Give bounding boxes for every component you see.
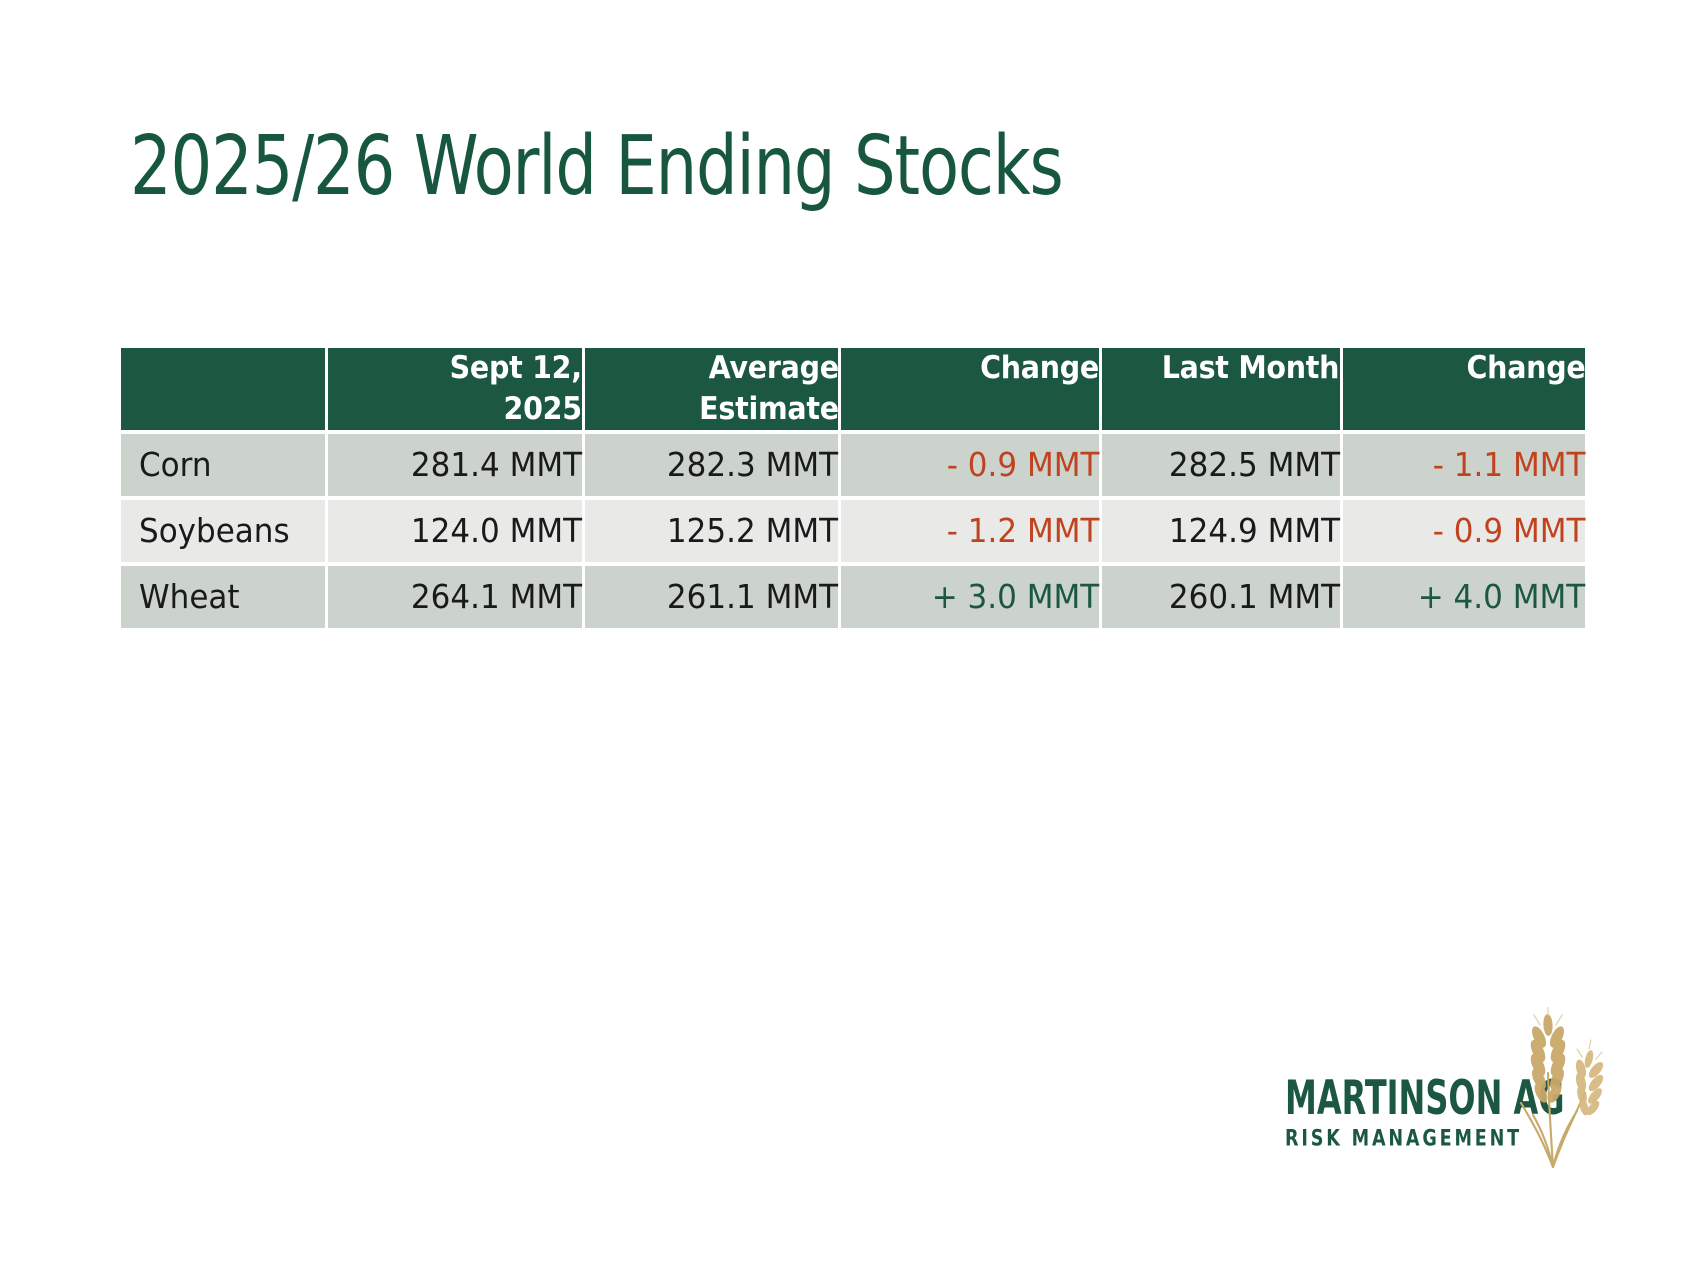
cell-soybeans-change-estimate: - 1.2 MMT (841, 500, 1099, 562)
cell-text: - 0.9 MMT (1432, 514, 1585, 547)
slide-canvas: 2025/26 World Ending Stocks Sept 12, 202… (0, 0, 1707, 1280)
header-line-average: Average (605, 348, 838, 389)
cell-soybeans-last-month: 124.9 MMT (1102, 500, 1339, 562)
cell-text: 125.2 MMT (667, 514, 838, 547)
cell-wheat-last-month: 260.1 MMT (1102, 566, 1339, 628)
header-line-sept-date: Sept 12, (348, 348, 581, 389)
row-label-corn: Corn (121, 434, 325, 496)
cell-text: 124.0 MMT (411, 514, 582, 547)
header-cell-blank (121, 348, 325, 430)
cell-text: 282.5 MMT (1168, 448, 1339, 481)
cell-text: 260.1 MMT (1168, 580, 1339, 613)
cell-wheat-sept: 264.1 MMT (328, 566, 582, 628)
table-body: Corn 281.4 MMT 282.3 MMT - 0.9 MMT 282.5… (121, 434, 1585, 628)
cell-text: Soybeans (139, 514, 290, 547)
logo-primary-text: MARTINSON AG (1285, 1075, 1485, 1122)
header-line-change-2: Change (1362, 348, 1585, 389)
table-row: Corn 281.4 MMT 282.3 MMT - 0.9 MMT 282.5… (121, 434, 1585, 496)
header-cell-average-estimate: Average Estimate (585, 348, 839, 430)
header-row: Sept 12, 2025 Average Estimate Change La… (121, 348, 1585, 430)
header-line-change-1: Change (862, 348, 1099, 389)
cell-text: + 4.0 MMT (1417, 580, 1585, 613)
logo-secondary-text: RISK MANAGEMENT (1285, 1127, 1505, 1149)
cell-wheat-change-last-month: + 4.0 MMT (1343, 566, 1585, 628)
row-label-soybeans: Soybeans (121, 500, 325, 562)
cell-soybeans-sept: 124.0 MMT (328, 500, 582, 562)
cell-soybeans-change-last-month: - 0.9 MMT (1343, 500, 1585, 562)
row-label-wheat: Wheat (121, 566, 325, 628)
cell-wheat-average: 261.1 MMT (585, 566, 839, 628)
martinson-ag-logo: MARTINSON AG RISK MANAGEMENT (1285, 1035, 1615, 1185)
header-line-estimate: Estimate (605, 389, 838, 430)
header-line-last-month: Last Month (1121, 348, 1339, 389)
cell-text: - 0.9 MMT (947, 448, 1100, 481)
cell-text: Corn (139, 448, 212, 481)
cell-text: + 3.0 MMT (932, 580, 1100, 613)
header-cell-change-vs-last-month: Change (1343, 348, 1585, 430)
cell-text: 281.4 MMT (411, 448, 582, 481)
cell-text: 282.3 MMT (667, 448, 838, 481)
cell-corn-change-last-month: - 1.1 MMT (1343, 434, 1585, 496)
cell-text: 124.9 MMT (1168, 514, 1339, 547)
header-cell-change-vs-estimate: Change (841, 348, 1099, 430)
cell-text: - 1.2 MMT (947, 514, 1100, 547)
table-row: Wheat 264.1 MMT 261.1 MMT + 3.0 MMT 260.… (121, 566, 1585, 628)
header-line-sept-year: 2025 (348, 389, 581, 430)
table-row: Soybeans 124.0 MMT 125.2 MMT - 1.2 MMT 1… (121, 500, 1585, 562)
wheat-stalk-icon (1501, 1007, 1621, 1177)
cell-soybeans-average: 125.2 MMT (585, 500, 839, 562)
header-cell-last-month: Last Month (1102, 348, 1339, 430)
cell-text: 264.1 MMT (411, 580, 582, 613)
cell-corn-last-month: 282.5 MMT (1102, 434, 1339, 496)
cell-text: 261.1 MMT (667, 580, 838, 613)
cell-corn-change-estimate: - 0.9 MMT (841, 434, 1099, 496)
cell-corn-average: 282.3 MMT (585, 434, 839, 496)
stocks-table: Sept 12, 2025 Average Estimate Change La… (118, 344, 1588, 632)
page-title: 2025/26 World Ending Stocks (130, 126, 1063, 208)
cell-corn-sept: 281.4 MMT (328, 434, 582, 496)
cell-text: Wheat (139, 580, 240, 613)
logo-wordmark: MARTINSON AG RISK MANAGEMENT (1285, 1075, 1535, 1147)
world-ending-stocks-table: Sept 12, 2025 Average Estimate Change La… (118, 344, 1588, 632)
cell-wheat-change-estimate: + 3.0 MMT (841, 566, 1099, 628)
table-header: Sept 12, 2025 Average Estimate Change La… (121, 348, 1585, 430)
cell-text: - 1.1 MMT (1432, 448, 1585, 481)
header-cell-sept-12-2025: Sept 12, 2025 (328, 348, 582, 430)
